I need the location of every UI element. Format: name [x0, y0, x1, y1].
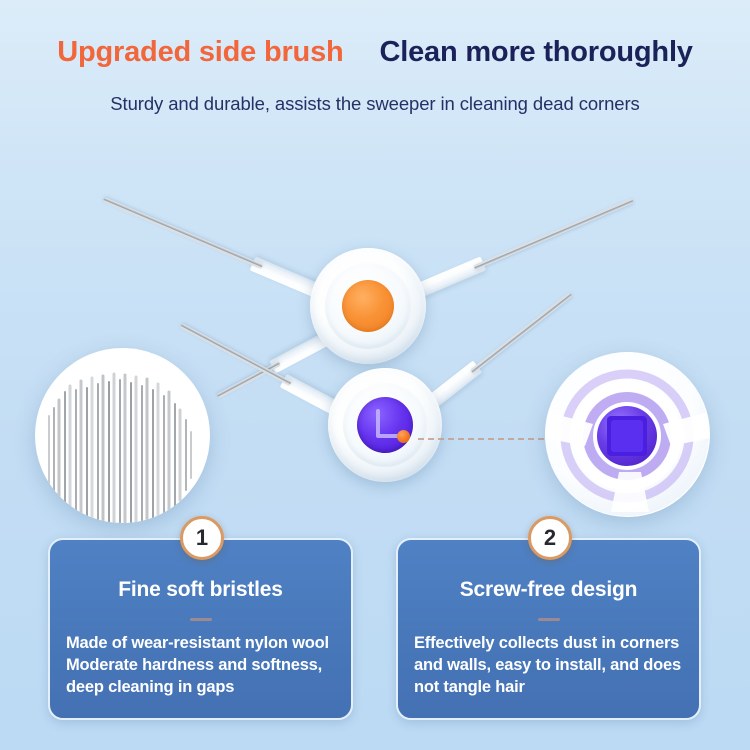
- page-subtitle: Sturdy and durable, assists the sweeper …: [0, 93, 750, 115]
- card-2-heading: Screw-free design: [398, 578, 699, 602]
- card-1-divider: [190, 618, 212, 621]
- card-2-divider: [538, 618, 560, 621]
- card-2-number-badge: 2: [528, 516, 572, 560]
- bristle-strands-graphic: [35, 348, 210, 523]
- title-row: Upgraded side brush Clean more thoroughl…: [0, 36, 750, 69]
- page-title-secondary: Clean more thoroughly: [380, 36, 693, 69]
- feature-card-1: Fine soft bristles Made of wear-resistan…: [48, 538, 353, 720]
- hub-closeup-graphic: [545, 352, 710, 517]
- card-2-body: Effectively collects dust in corners and…: [414, 632, 685, 698]
- header: Upgraded side brush Clean more thoroughl…: [0, 0, 750, 132]
- product-feature-image: Upgraded side brush Clean more thoroughl…: [0, 0, 750, 750]
- card-1-heading: Fine soft bristles: [50, 578, 351, 602]
- card-1-number-badge: 1: [180, 516, 224, 560]
- product-stage: [0, 130, 750, 520]
- hub-closeup-circle: [545, 352, 710, 517]
- hub-orange-marker-dot: [397, 430, 410, 443]
- card-1-body: Made of wear-resistant nylon wool Modera…: [66, 632, 337, 698]
- bristle-closeup-circle: [35, 348, 210, 523]
- feature-cards: Fine soft bristles Made of wear-resistan…: [0, 520, 750, 750]
- page-title-primary: Upgraded side brush: [57, 36, 343, 69]
- hub-leader-line: [418, 438, 564, 440]
- feature-card-2: Screw-free design Effectively collects d…: [396, 538, 701, 720]
